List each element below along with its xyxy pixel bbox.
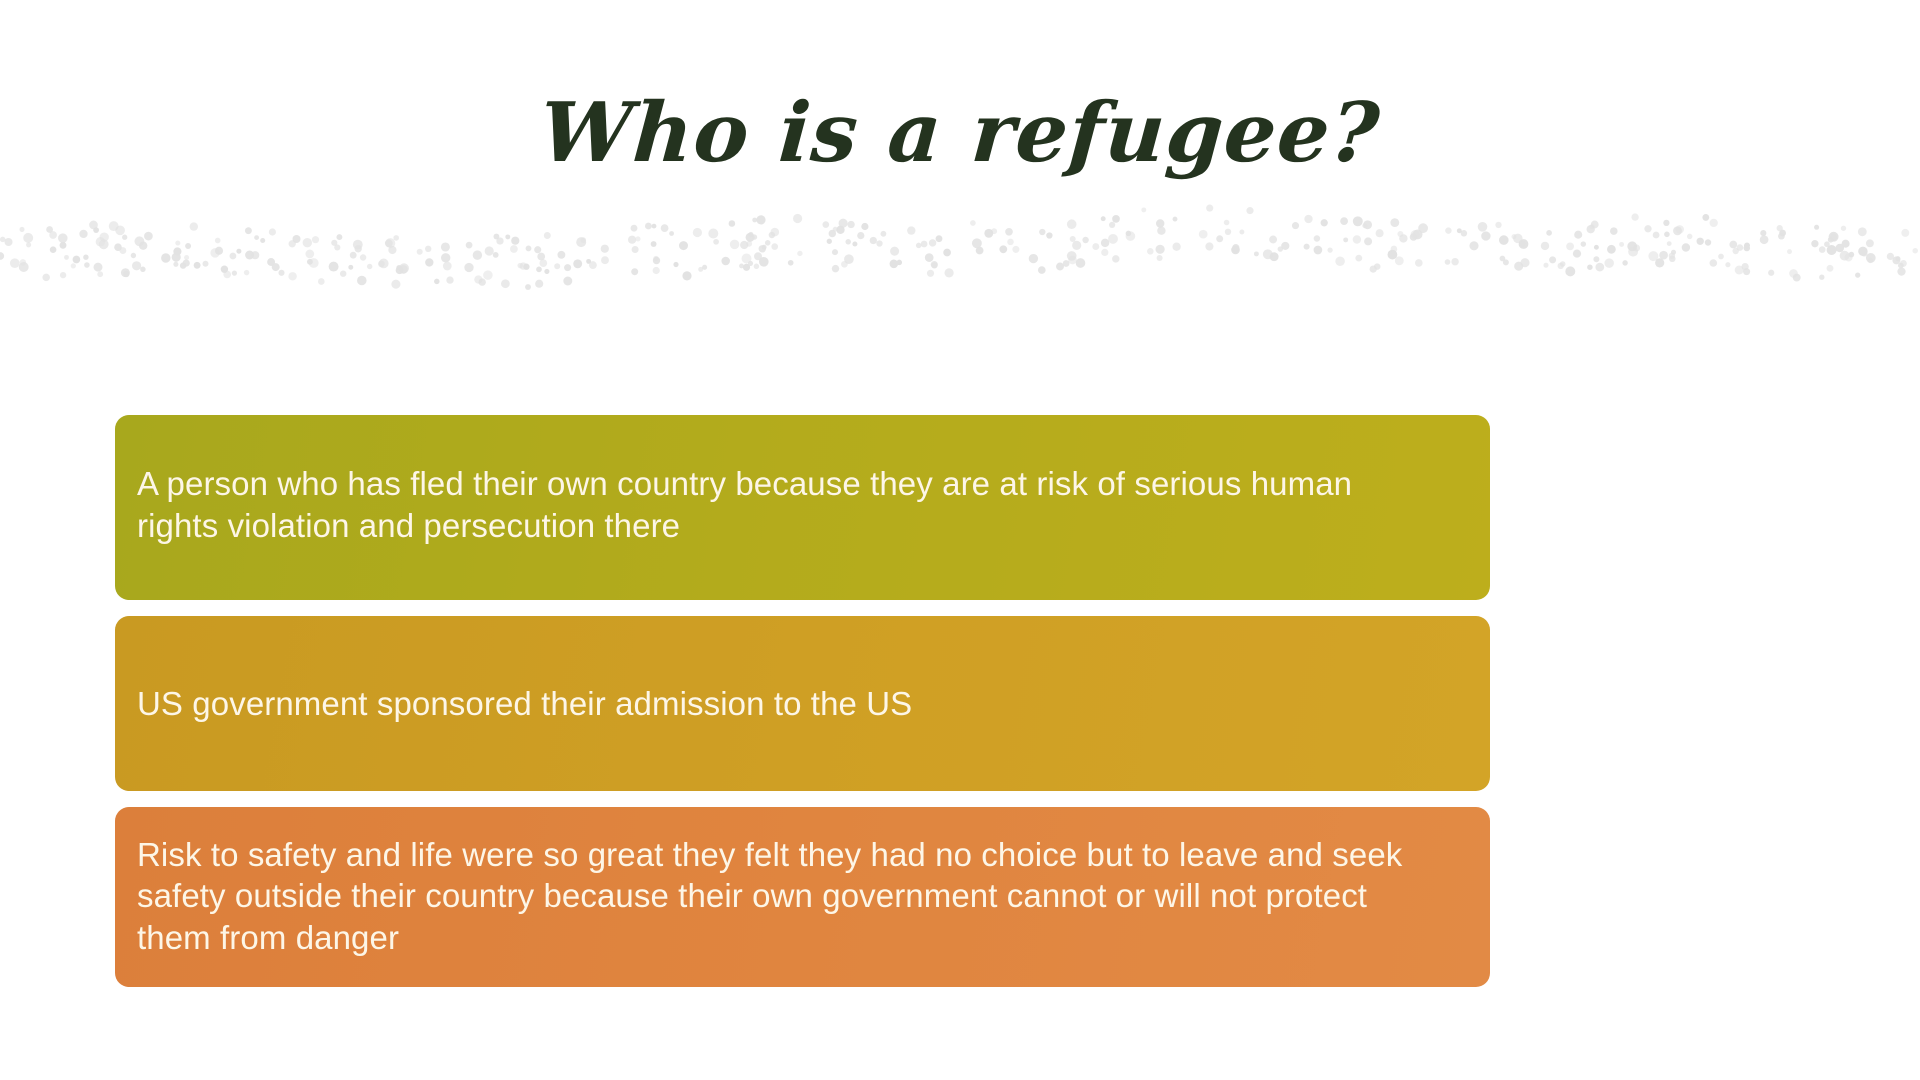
definition-card-1-text: A person who has fled their own country … xyxy=(137,463,1447,546)
dotted-divider-graphic xyxy=(0,196,1920,296)
definition-card-1[interactable]: A person who has fled their own country … xyxy=(115,415,1490,600)
dotted-divider xyxy=(0,196,1920,296)
definition-card-3[interactable]: Risk to safety and life were so great th… xyxy=(115,807,1490,987)
definition-card-2-text: US government sponsored their admission … xyxy=(137,683,1447,725)
definition-card-3-text: Risk to safety and life were so great th… xyxy=(137,834,1447,959)
definition-card-2[interactable]: US government sponsored their admission … xyxy=(115,616,1490,791)
definition-card-list: A person who has fled their own country … xyxy=(115,415,1490,987)
page-title: Who is a refugee? xyxy=(0,92,1920,174)
